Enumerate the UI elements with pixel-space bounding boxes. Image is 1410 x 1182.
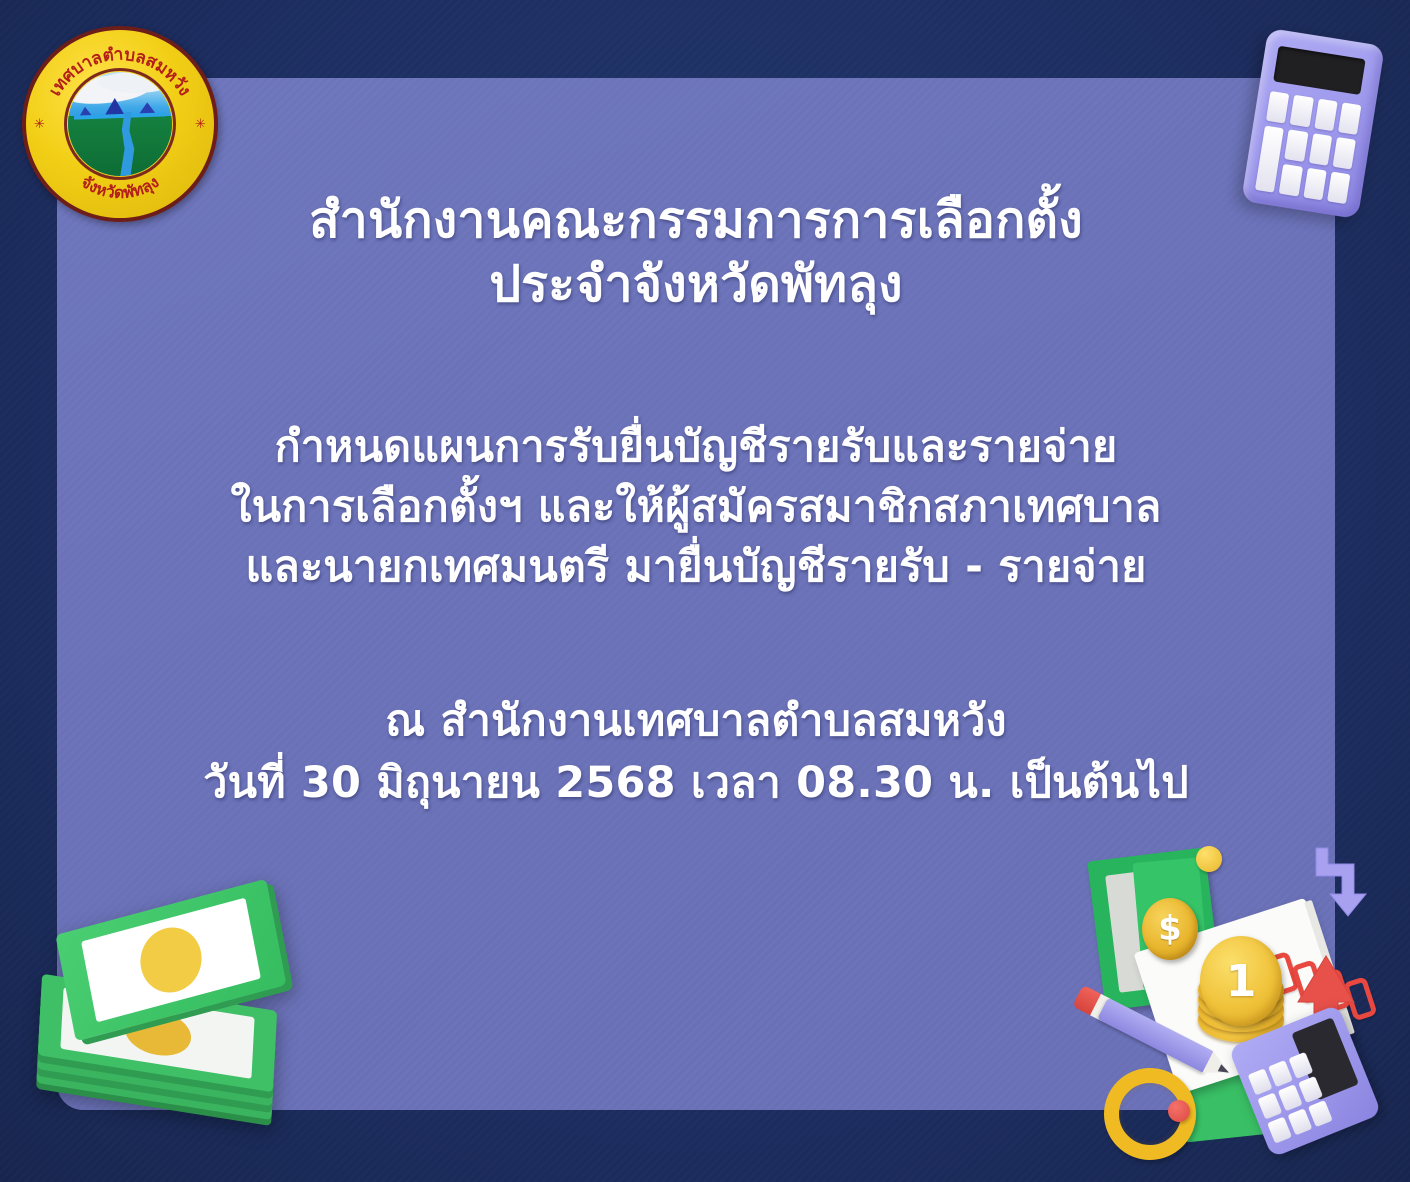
datetime-line: วันที่ 30 มิถุนายน 2568 เวลา 08.30 น. เป… (203, 759, 1188, 809)
calculator-key (1314, 99, 1338, 132)
finance-illustration-cluster: $ 1 (1060, 832, 1410, 1152)
seal-text-arcs: เทศบาลตำบลสมหวัง จังหวัดพัทลุง (22, 26, 218, 222)
coin-stack-icon: 1 (1198, 936, 1284, 1046)
municipality-seal-logo: เทศบาลตำบลสมหวัง จังหวัดพัทลุง ✳ ✳ (22, 26, 218, 222)
venue-line: ณ สำนักงานเทศบาลตำบลสมหวัง (385, 697, 1007, 747)
svg-text:เทศบาลตำบลสมหวัง: เทศบาลตำบลสมหวัง (45, 44, 194, 99)
calculator-icon-top-right (1241, 28, 1385, 219)
seal-bottom-text: จังหวัดพัทลุง (78, 172, 163, 202)
poster-canvas: เทศบาลตำบลสมหวัง จังหวัดพัทลุง ✳ ✳ สำ (0, 0, 1410, 1182)
calculator-key (1303, 168, 1327, 201)
yellow-ball-shape (1196, 846, 1222, 872)
svg-text:จังหวัดพัทลุง: จังหวัดพัทลุง (78, 172, 163, 202)
banknotes-icon-bottom-left (28, 900, 308, 1120)
coin-top-face: 1 (1200, 936, 1282, 1026)
seal-star-left-icon: ✳ (33, 118, 46, 131)
calculator-key (1266, 91, 1290, 124)
calculator-keys (1255, 91, 1362, 204)
body-line-3: และนายกเทศมนตรี มายื่นบัญชีรายรับ - รายจ… (246, 543, 1147, 593)
calculator-key (1284, 129, 1308, 162)
page-title-line-2: ประจำจังหวัดพัทลุง (489, 255, 903, 313)
body-line-1: กำหนดแผนการรับยื่นบัญชีรายรับและรายจ่าย (275, 423, 1118, 473)
arrow-down-icon (1308, 842, 1372, 922)
page-title-line-1: สำนักงานคณะกรรมการการเลือกตั้ง (309, 191, 1083, 249)
seal-star-right-icon: ✳ (194, 118, 207, 131)
calculator-key (1279, 164, 1303, 197)
seal-top-text: เทศบาลตำบลสมหวัง (45, 44, 194, 99)
calculator-key (1290, 95, 1314, 128)
red-ball-shape (1168, 1100, 1190, 1122)
calculator-key (1278, 1084, 1303, 1111)
calculator-key (1308, 133, 1332, 166)
dollar-coin-icon: $ (1142, 898, 1198, 960)
body-line-2: ในการเลือกตั้งฯ และให้ผู้สมัครสมาชิกสภาเ… (231, 483, 1162, 533)
calculator-key (1268, 1060, 1293, 1087)
